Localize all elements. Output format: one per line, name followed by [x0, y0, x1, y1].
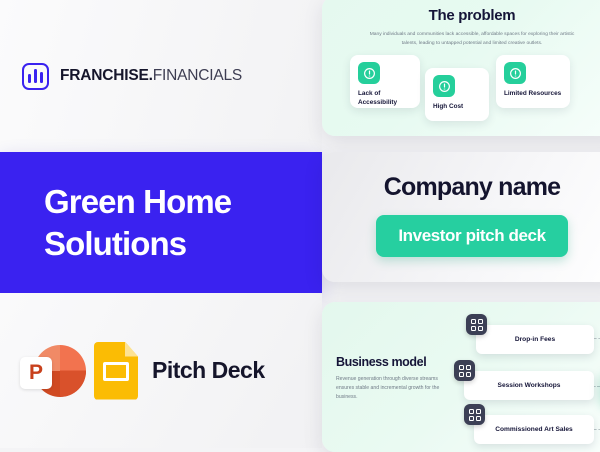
problem-card[interactable]: Limited Resources	[496, 55, 570, 108]
problem-card[interactable]: High Cost	[425, 68, 489, 121]
slide-card-problem[interactable]: The problem Many individuals and communi…	[322, 0, 600, 136]
google-slides-icon[interactable]	[94, 342, 138, 400]
hero-title-line-1: Green Home	[44, 181, 322, 223]
slides-screen-shape	[103, 362, 129, 381]
business-model-title: Business model	[336, 355, 454, 369]
grid-squares-icon	[466, 314, 487, 335]
revenue-stream-label: Commissioned Art Sales	[474, 415, 594, 444]
revenue-stream-label: Session Workshops	[464, 371, 594, 400]
problem-card-label: Limited Resources	[504, 90, 562, 99]
company-content: Company name Investor pitch deck	[322, 152, 600, 282]
problem-description: Many individuals and communities lack ac…	[365, 31, 580, 48]
deck-format-row: P Pitch Deck	[0, 293, 322, 448]
deck-label: Pitch Deck	[152, 357, 265, 384]
problem-card-group: Lack of Accessibility High Cost Limited …	[322, 55, 600, 121]
business-model-diagram: Drop-in Fees Session Workshops Commissio…	[452, 312, 600, 447]
slide-preview-canvas: FRANCHISE.FINANCIALS Green Home Solution…	[0, 0, 600, 448]
powerpoint-letter-tile: P	[20, 357, 52, 389]
alert-circle-icon	[358, 62, 380, 84]
alert-circle-icon	[504, 62, 526, 84]
brand-name: FRANCHISE.FINANCIALS	[60, 67, 242, 85]
powerpoint-letter: P	[29, 362, 43, 383]
investor-pitch-deck-button[interactable]: Investor pitch deck	[376, 215, 567, 257]
problem-card[interactable]: Lack of Accessibility	[350, 55, 420, 108]
slides-corner-fold	[125, 342, 138, 357]
powerpoint-icon[interactable]: P	[20, 341, 80, 401]
problem-card-label: High Cost	[433, 103, 481, 112]
brand-name-bold: FRANCHISE.	[60, 67, 153, 84]
slide-card-company[interactable]: Company name Investor pitch deck	[322, 152, 600, 282]
grid-squares-icon	[464, 404, 485, 425]
hero-banner: Green Home Solutions	[0, 152, 322, 293]
problem-title: The problem	[322, 7, 600, 24]
bar-chart-logo-icon	[22, 63, 49, 90]
hero-title-line-2: Solutions	[44, 223, 322, 265]
business-model-text-block: Business model Revenue generation throug…	[336, 355, 454, 402]
problem-card-label: Lack of Accessibility	[358, 90, 412, 107]
brand-name-light: FINANCIALS	[153, 67, 242, 84]
slide-card-business-model[interactable]: Business model Revenue generation throug…	[322, 302, 600, 452]
brand-logo-lockup[interactable]: FRANCHISE.FINANCIALS	[22, 63, 242, 90]
revenue-stream-label: Drop-in Fees	[476, 325, 594, 354]
brand-header: FRANCHISE.FINANCIALS	[0, 0, 322, 152]
grid-squares-icon	[454, 360, 475, 381]
company-title: Company name	[384, 173, 561, 202]
hero-title: Green Home Solutions	[44, 181, 322, 264]
alert-circle-icon	[433, 75, 455, 97]
business-model-description: Revenue generation through diverse strea…	[336, 375, 454, 402]
